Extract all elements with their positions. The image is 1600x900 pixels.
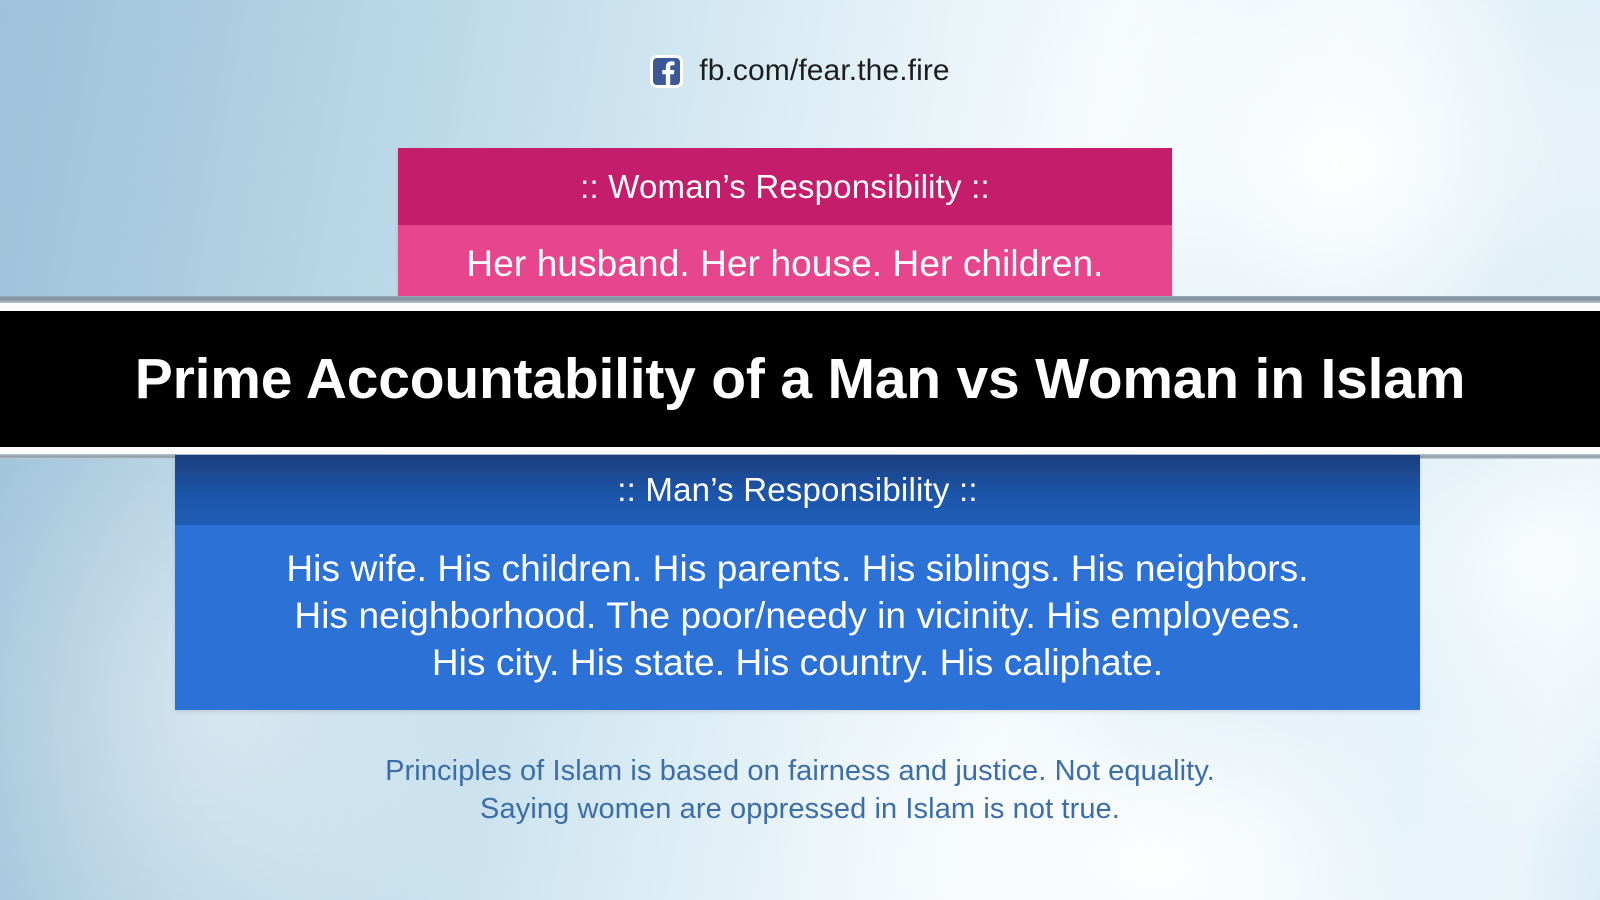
page-title-bar: Prime Accountability of a Man vs Woman i… [0,311,1600,447]
woman-panel-body: Her husband. Her house. Her children. [398,225,1172,303]
title-gap-above [0,303,1600,311]
man-responsibility-panel: :: Man’s Responsibility :: His wife. His… [175,455,1420,710]
woman-responsibility-panel: :: Woman’s Responsibility :: Her husband… [398,148,1172,303]
poster-canvas: fb.com/fear.the.fire :: Woman’s Responsi… [0,0,1600,900]
title-bar-group: Prime Accountability of a Man vs Woman i… [0,296,1600,459]
facebook-icon[interactable] [650,55,683,88]
woman-panel-header: :: Woman’s Responsibility :: [398,148,1172,225]
man-panel-body-line: His wife. His children. His parents. His… [175,545,1420,592]
footer-line: Principles of Islam is based on fairness… [0,752,1600,790]
footer-note: Principles of Islam is based on fairness… [0,752,1600,828]
man-panel-body-line: His neighborhood. The poor/needy in vici… [175,592,1420,639]
page-title: Prime Accountability of a Man vs Woman i… [135,346,1465,412]
title-rule-above [0,296,1600,303]
man-panel-header: :: Man’s Responsibility :: [175,455,1420,525]
facebook-attribution[interactable]: fb.com/fear.the.fire [0,54,1600,88]
man-panel-body-line: His city. His state. His country. His ca… [175,639,1420,686]
footer-line: Saying women are oppressed in Islam is n… [0,790,1600,828]
woman-panel-body-text: Her husband. Her house. Her children. [466,243,1103,285]
title-gap-below [0,447,1600,454]
woman-panel-heading-text: :: Woman’s Responsibility :: [580,168,990,206]
facebook-url-text: fb.com/fear.the.fire [699,54,949,88]
man-panel-heading-text: :: Man’s Responsibility :: [617,471,977,509]
man-panel-body: His wife. His children. His parents. His… [175,525,1420,710]
